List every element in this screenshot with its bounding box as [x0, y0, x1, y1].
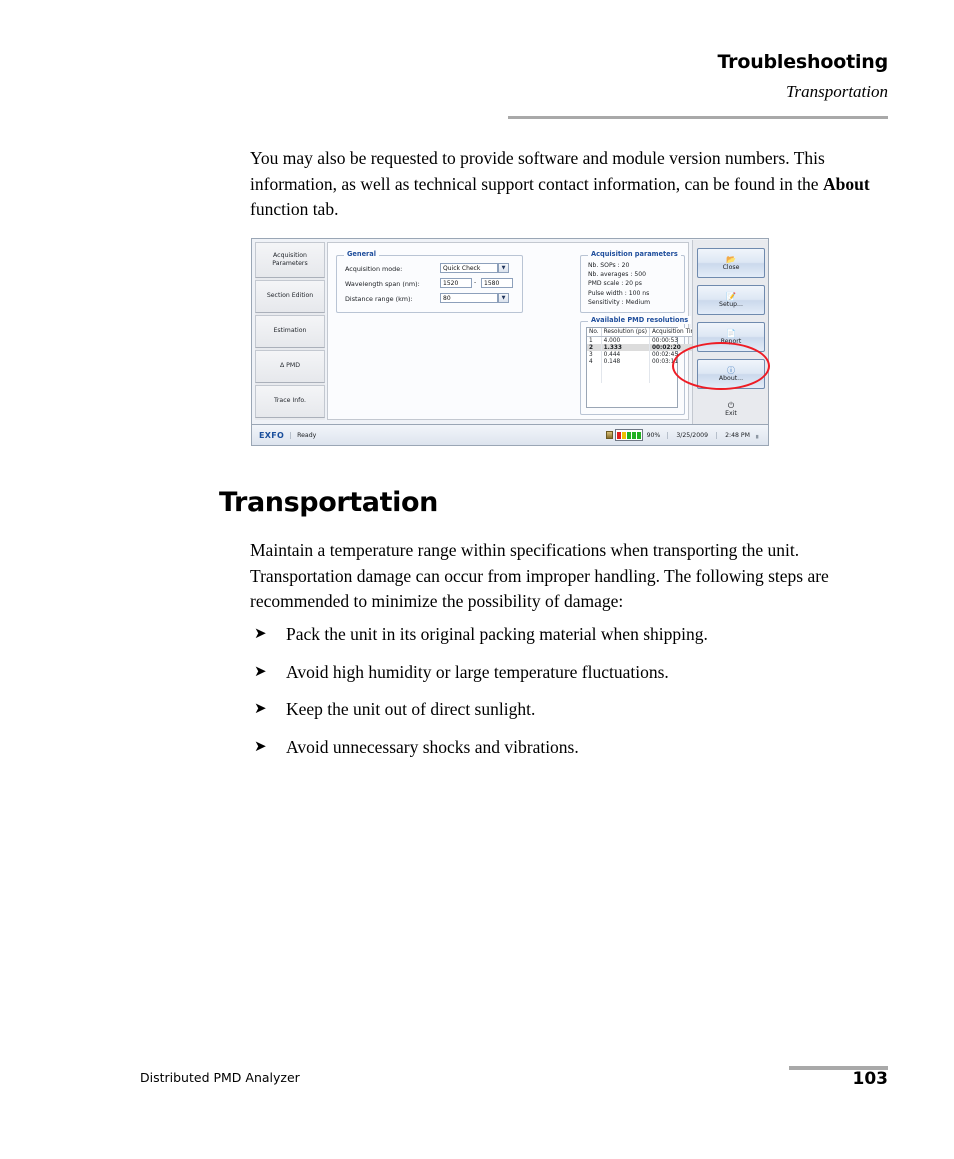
tab-estimation[interactable]: Estimation	[255, 315, 325, 348]
header-title: Troubleshooting	[508, 52, 888, 73]
header-divider	[508, 116, 888, 119]
folder-icon: 📂	[726, 255, 736, 264]
content-panel: General Acquisition mode: Quick Check ▼ …	[327, 242, 689, 420]
table-row[interactable]: 3 0.444 00:02:45	[587, 351, 702, 358]
tab-delta-pmd[interactable]: Δ PMD	[255, 350, 325, 383]
intro-paragraph: You may also be requested to provide sof…	[250, 146, 882, 223]
acquisition-parameters-list: Nb. SOPs : 20 Nb. averages : 500 PMD sca…	[588, 261, 650, 307]
param-line: Pulse width : 100 ns	[588, 289, 650, 298]
section-paragraph: Maintain a temperature range within spec…	[250, 538, 882, 615]
wavelength-to-input[interactable]: 1580	[481, 278, 513, 288]
close-button[interactable]: 📂 Close	[697, 248, 765, 278]
tab-label: Section Edition	[267, 292, 313, 300]
bullet-marker-icon: ➤	[254, 660, 267, 685]
exit-button[interactable]: ⏻ Exit	[697, 394, 765, 424]
status-date: 3/25/2009	[667, 432, 716, 439]
status-text: Ready	[290, 432, 316, 439]
acquisition-mode-value: Quick Check	[443, 265, 480, 272]
header-subtitle: Transportation	[508, 82, 888, 102]
tab-label: Estimation	[274, 327, 307, 335]
param-line: Nb. averages : 500	[588, 270, 650, 279]
tab-label: Δ PMD	[280, 362, 300, 370]
table-row[interactable]: 4 0.148 00:03:11	[587, 358, 702, 365]
tab-trace-info[interactable]: Trace Info.	[255, 385, 325, 418]
tab-strip: Acquisition Parameters Section Edition E…	[255, 242, 325, 420]
setup-button[interactable]: 📝 Setup...	[697, 285, 765, 315]
list-item-text: Keep the unit out of direct sunlight.	[286, 699, 535, 719]
wavelength-from-value: 1520	[443, 280, 458, 287]
chevron-down-icon[interactable]: ▼	[498, 263, 509, 273]
setup-icon: 📝	[726, 292, 736, 301]
page-header: Troubleshooting Transportation	[508, 52, 888, 102]
software-screenshot-figure: Acquisition Parameters Section Edition E…	[251, 238, 769, 446]
wavelength-span-label: Wavelength span (nm):	[345, 280, 420, 288]
page-title: Transportation	[219, 487, 438, 518]
about-icon: ⓘ	[727, 366, 735, 375]
battery-gauge	[606, 429, 643, 441]
general-group: General Acquisition mode: Quick Check ▼ …	[336, 255, 523, 313]
param-line: Nb. SOPs : 20	[588, 261, 650, 270]
column-header-resolution: Resolution (ps)	[601, 328, 649, 337]
pmd-resolutions-table[interactable]: No. Resolution (ps) Acquisition Time 1 4…	[586, 327, 678, 408]
distance-range-label: Distance range (km):	[345, 295, 413, 303]
cell-no: 3	[587, 351, 601, 358]
acquisition-mode-label: Acquisition mode:	[345, 265, 402, 273]
cell-no: 4	[587, 358, 601, 365]
distance-range-value: 80	[443, 295, 451, 302]
acquisition-mode-select[interactable]: Quick Check	[440, 263, 498, 273]
table-row-empty	[587, 374, 702, 383]
battery-percent: 90%	[643, 432, 668, 439]
about-button-label: About...	[719, 375, 743, 383]
action-button-column: 📂 Close 📝 Setup... 📄 Report ⓘ About... ⏻…	[692, 240, 769, 424]
tab-label: Acquisition Parameters	[256, 252, 324, 269]
footer-product-name: Distributed PMD Analyzer	[140, 1070, 300, 1085]
footer-page-number: 103	[818, 1069, 888, 1089]
acquisition-parameters-title: Acquisition parameters	[588, 250, 681, 258]
list-item: ➤ Keep the unit out of direct sunlight.	[250, 697, 890, 722]
bullet-list: ➤ Pack the unit in its original packing …	[250, 622, 890, 772]
tab-acquisition-parameters[interactable]: Acquisition Parameters	[255, 242, 325, 278]
intro-text-after: function tab.	[250, 199, 338, 219]
table-header-row: No. Resolution (ps) Acquisition Time	[587, 328, 702, 337]
status-bar: EXFO Ready 90% 3/25/2009 2:48 PM ▖	[252, 424, 768, 445]
wavelength-span-row: Wavelength span (nm):	[345, 280, 420, 288]
bullet-marker-icon: ➤	[254, 735, 267, 760]
cell-resolution: 0.444	[601, 351, 649, 358]
setup-button-label: Setup...	[719, 301, 743, 309]
cell-resolution: 0.148	[601, 358, 649, 365]
cell-no: 2	[587, 344, 601, 351]
list-item-text: Avoid unnecessary shocks and vibrations.	[286, 737, 579, 757]
power-icon: ⏻	[728, 401, 734, 410]
acquisition-mode-row: Acquisition mode:	[345, 265, 402, 273]
figure-body: Acquisition Parameters Section Edition E…	[252, 239, 769, 425]
close-button-label: Close	[723, 264, 740, 272]
list-item: ➤ Avoid unnecessary shocks and vibration…	[250, 735, 890, 760]
cell-resolution: 4.000	[601, 337, 649, 345]
report-button-label: Report	[721, 338, 742, 346]
tab-label: Trace Info.	[274, 397, 306, 405]
param-line: PMD scale : 20 ps	[588, 279, 650, 288]
tab-section-edition[interactable]: Section Edition	[255, 280, 325, 313]
param-line: Sensitivity : Medium	[588, 298, 650, 307]
wavelength-separator: -	[474, 278, 476, 288]
chevron-down-icon[interactable]: ▼	[498, 293, 509, 303]
report-button[interactable]: 📄 Report	[697, 322, 765, 352]
general-group-title: General	[344, 250, 379, 258]
status-time: 2:48 PM	[716, 432, 756, 439]
bullet-marker-icon: ➤	[254, 622, 267, 647]
bullet-marker-icon: ➤	[254, 697, 267, 722]
list-item-text: Pack the unit in its original packing ma…	[286, 624, 708, 644]
cell-resolution: 1.333	[601, 344, 649, 351]
cell-no: 1	[587, 337, 601, 345]
intro-text-before: You may also be requested to provide sof…	[250, 148, 825, 194]
gauge-bars	[615, 429, 643, 441]
acquisition-parameters-group: Acquisition parameters Nb. SOPs : 20 Nb.…	[580, 255, 685, 313]
resize-grip[interactable]: ▖	[756, 432, 766, 439]
exfo-brand-logo: EXFO	[252, 431, 290, 440]
table-row-empty	[587, 365, 702, 374]
exit-button-label: Exit	[725, 410, 737, 418]
wavelength-to-value: 1580	[484, 280, 499, 287]
list-item: ➤ Pack the unit in its original packing …	[250, 622, 890, 647]
wavelength-from-input[interactable]: 1520	[440, 278, 472, 288]
column-header-no: No.	[587, 328, 601, 337]
list-item-text: Avoid high humidity or large temperature…	[286, 662, 669, 682]
distance-range-row: Distance range (km):	[345, 295, 413, 303]
intro-bold-term: About	[823, 174, 870, 194]
distance-range-select[interactable]: 80	[440, 293, 498, 303]
pmd-resolutions-group: Available PMD resolutions No. Resolution…	[580, 321, 685, 415]
about-button[interactable]: ⓘ About...	[697, 359, 765, 389]
list-item: ➤ Avoid high humidity or large temperatu…	[250, 660, 890, 685]
report-icon: 📄	[726, 329, 736, 338]
pmd-resolutions-title: Available PMD resolutions	[588, 316, 691, 324]
table-row[interactable]: 1 4.000 00:00:53	[587, 337, 702, 345]
battery-icon	[606, 431, 613, 439]
table-row-selected[interactable]: 2 1.333 00:02:20	[587, 344, 702, 351]
